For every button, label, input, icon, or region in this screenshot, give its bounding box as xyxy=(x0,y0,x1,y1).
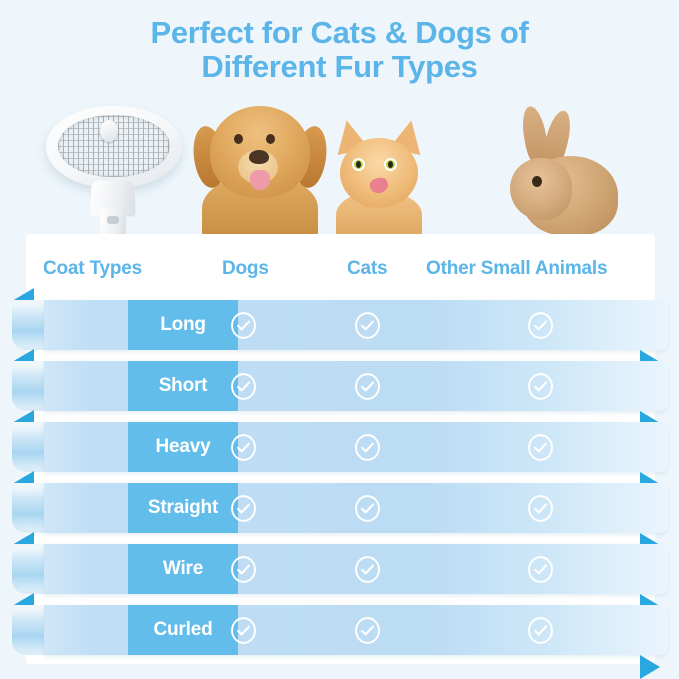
page-title: Perfect for Cats & Dogs of Different Fur… xyxy=(0,16,679,84)
check-circle-icon-cats xyxy=(354,312,381,339)
coat-type-label-text: Short xyxy=(159,375,208,397)
check-circle-icon-dogs xyxy=(230,434,257,461)
orange-cat-illustration xyxy=(330,120,428,244)
dog-eye-left xyxy=(234,134,243,144)
coat-type-label-text: Wire xyxy=(163,558,203,580)
table-row-curled: Curled xyxy=(0,599,679,655)
dog-tongue xyxy=(250,170,270,190)
table-row-short: Short xyxy=(0,355,679,411)
coat-type-label-long: Long xyxy=(128,300,238,350)
page-title-line-1: Perfect for Cats & Dogs of xyxy=(0,16,679,50)
dog-nose xyxy=(249,150,269,164)
table-row-long: Long xyxy=(0,294,679,350)
column-header-coat-types: Coat Types xyxy=(43,258,142,280)
brush-release-button xyxy=(100,120,118,142)
cat-eye-left xyxy=(352,158,365,171)
check-circle-icon-dogs xyxy=(230,556,257,583)
golden-retriever-illustration xyxy=(196,100,324,244)
tan-rabbit-illustration xyxy=(500,106,620,244)
check-circle-icon-dogs xyxy=(230,312,257,339)
cat-eye-right xyxy=(384,158,397,171)
page-title-line-2: Different Fur Types xyxy=(0,50,679,84)
column-header-other-small-animals: Other Small Animals xyxy=(426,258,607,280)
check-circle-icon-other-small-animals xyxy=(527,556,554,583)
check-circle-icon-dogs xyxy=(230,617,257,644)
check-circle-icon-dogs xyxy=(230,495,257,522)
coat-type-label-text: Heavy xyxy=(156,436,211,458)
hero-image-strip xyxy=(0,92,679,244)
coat-type-label-wire: Wire xyxy=(128,544,238,594)
cat-head xyxy=(340,138,418,208)
table-row-wire: Wire xyxy=(0,538,679,594)
dog-eye-right xyxy=(266,134,275,144)
column-header-cats: Cats xyxy=(347,258,387,280)
comparison-table-header-row: Coat Types Dogs Cats Other Small Animals xyxy=(26,250,655,292)
brush-handle-slot xyxy=(107,216,119,224)
ribbon-fold-right-icon xyxy=(640,655,660,679)
coat-type-label-text: Curled xyxy=(154,619,213,641)
brush-head xyxy=(46,106,182,188)
check-circle-icon-other-small-animals xyxy=(527,312,554,339)
check-circle-icon-cats xyxy=(354,556,381,583)
check-circle-icon-other-small-animals xyxy=(527,495,554,522)
table-row-straight: Straight xyxy=(0,477,679,533)
table-row-heavy: Heavy xyxy=(0,416,679,472)
coat-type-label-heavy: Heavy xyxy=(128,422,238,472)
check-circle-icon-cats xyxy=(354,495,381,522)
coat-type-label-text: Straight xyxy=(148,497,218,519)
pet-grooming-brush-illustration xyxy=(36,96,196,244)
coat-type-label-curled: Curled xyxy=(128,605,238,655)
check-circle-icon-other-small-animals xyxy=(527,434,554,461)
check-circle-icon-cats xyxy=(354,434,381,461)
coat-type-label-straight: Straight xyxy=(128,483,238,533)
check-circle-icon-cats xyxy=(354,617,381,644)
rabbit-eye xyxy=(532,176,542,187)
check-circle-icon-other-small-animals xyxy=(527,373,554,400)
check-circle-icon-other-small-animals xyxy=(527,617,554,644)
coat-type-label-text: Long xyxy=(160,314,206,336)
check-circle-icon-cats xyxy=(354,373,381,400)
column-header-dogs: Dogs xyxy=(222,258,269,280)
rabbit-head xyxy=(510,158,572,220)
coat-type-label-short: Short xyxy=(128,361,238,411)
check-circle-icon-dogs xyxy=(230,373,257,400)
